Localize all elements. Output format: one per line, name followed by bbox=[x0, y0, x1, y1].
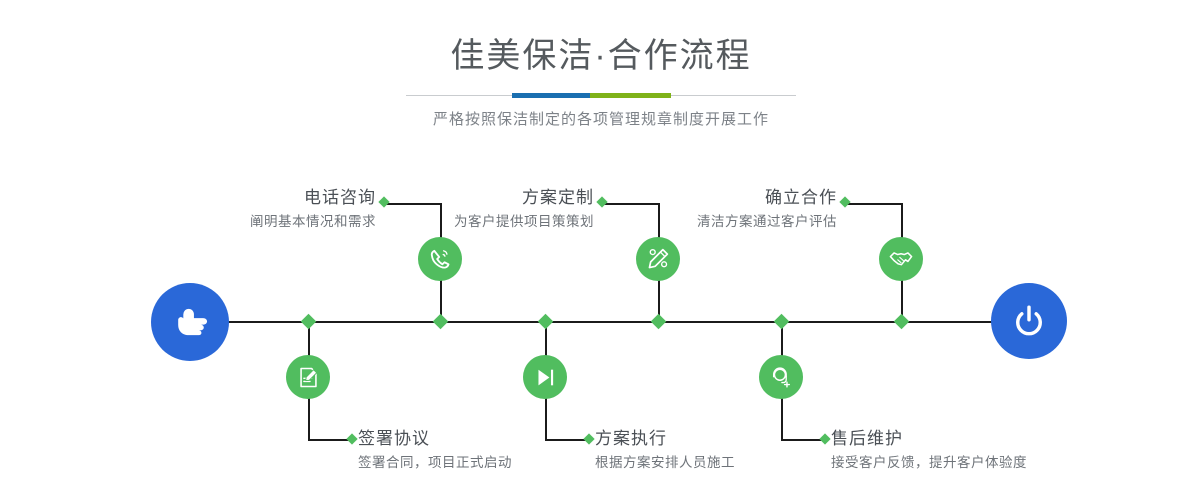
step-3-axis-marker bbox=[651, 314, 667, 330]
step-2-desc: 签署合同，项目正式启动 bbox=[358, 453, 618, 473]
step-1-title: 电话咨询 bbox=[200, 187, 376, 209]
step-5-axis-marker bbox=[894, 314, 910, 330]
step-6-title: 售后维护 bbox=[831, 428, 1111, 450]
pointing-hand-icon bbox=[169, 301, 211, 343]
timeline: 电话咨询 阐明基本情况和需求 签署协议 签署合同，项目正式启动 bbox=[0, 0, 1202, 502]
step-5-label: 确立合作 清洁方案通过客户评估 bbox=[661, 187, 837, 232]
timeline-start-node[interactable] bbox=[151, 283, 229, 361]
power-icon bbox=[1009, 301, 1049, 341]
step-3-desc: 为客户提供项目策策划 bbox=[418, 212, 594, 232]
step-3-connector-horizontal bbox=[603, 203, 659, 205]
support-headset-plus-icon bbox=[769, 365, 794, 390]
step-5-icon-badge[interactable] bbox=[879, 237, 923, 281]
step-3-label-marker bbox=[596, 196, 607, 207]
step-6-axis-marker bbox=[774, 314, 790, 330]
step-6-label: 售后维护 接受客户反馈，提升客户体验度 bbox=[831, 428, 1111, 473]
step-3-icon-badge[interactable] bbox=[636, 237, 680, 281]
step-6-icon-badge[interactable] bbox=[759, 355, 803, 399]
step-5-connector-horizontal bbox=[846, 203, 902, 205]
step-4-label: 方案执行 根据方案安排人员施工 bbox=[595, 428, 855, 473]
document-pen-icon bbox=[296, 365, 321, 390]
handshake-icon bbox=[888, 246, 914, 272]
step-4-desc: 根据方案安排人员施工 bbox=[595, 453, 855, 473]
step-1-label: 电话咨询 阐明基本情况和需求 bbox=[200, 187, 376, 232]
step-2-title: 签署协议 bbox=[358, 428, 618, 450]
step-2-label: 签署协议 签署合同，项目正式启动 bbox=[358, 428, 618, 473]
step-1-label-marker bbox=[378, 196, 389, 207]
step-2-axis-marker bbox=[301, 314, 317, 330]
step-3-title: 方案定制 bbox=[418, 187, 594, 209]
step-2-icon-badge[interactable] bbox=[286, 355, 330, 399]
pencil-design-icon bbox=[645, 246, 671, 272]
step-1-desc: 阐明基本情况和需求 bbox=[200, 212, 376, 232]
play-execute-icon bbox=[533, 365, 558, 390]
step-5-label-marker bbox=[839, 196, 850, 207]
step-2-connector-horizontal bbox=[308, 439, 352, 441]
process-flow-infographic: 佳美保洁·合作流程 严格按照保洁制定的各项管理规章制度开展工作 bbox=[0, 0, 1202, 502]
step-4-icon-badge[interactable] bbox=[523, 355, 567, 399]
step-2-label-marker bbox=[346, 433, 357, 444]
phone-call-icon bbox=[427, 246, 453, 272]
step-1-axis-marker bbox=[433, 314, 449, 330]
step-1-icon-badge[interactable] bbox=[418, 237, 462, 281]
step-4-axis-marker bbox=[538, 314, 554, 330]
step-4-title: 方案执行 bbox=[595, 428, 855, 450]
step-6-desc: 接受客户反馈，提升客户体验度 bbox=[831, 453, 1111, 473]
timeline-end-node[interactable] bbox=[991, 283, 1067, 359]
step-3-label: 方案定制 为客户提供项目策策划 bbox=[418, 187, 594, 232]
step-5-title: 确立合作 bbox=[661, 187, 837, 209]
step-5-desc: 清洁方案通过客户评估 bbox=[661, 212, 837, 232]
